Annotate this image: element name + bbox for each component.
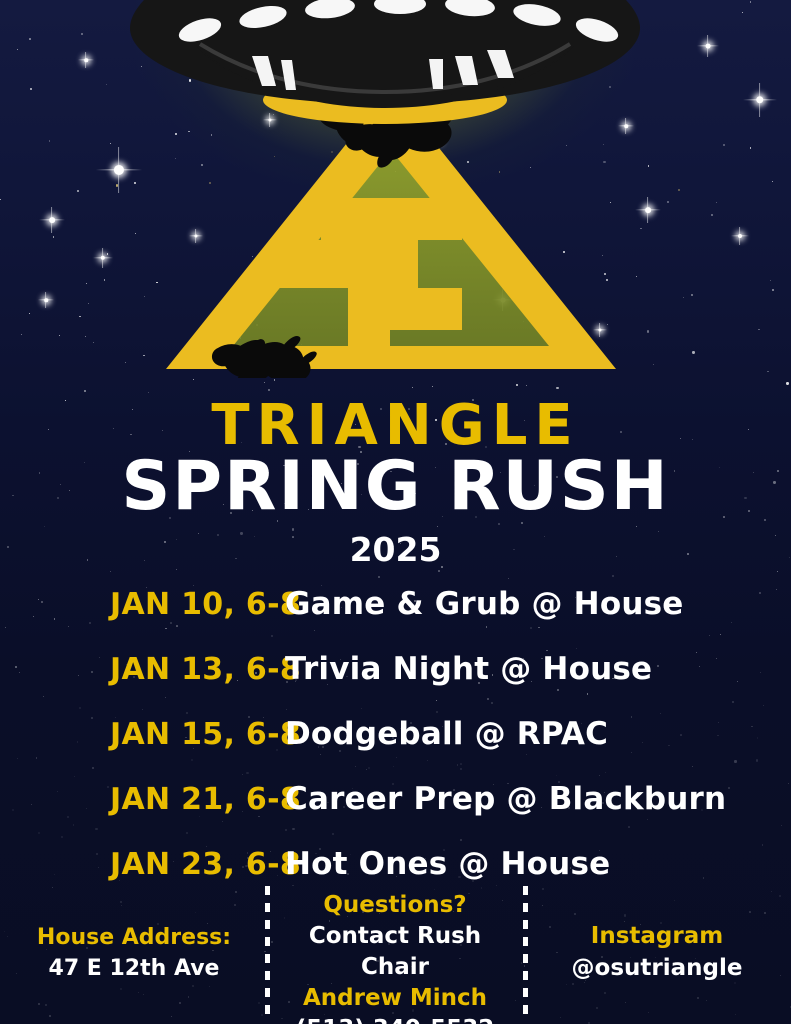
- rush-poster: TRIANGLE SPRING RUSH 2025 JAN 10, 6-8 Ga…: [0, 0, 791, 1024]
- poster-year: 2025: [0, 531, 791, 571]
- poster-footer: House Address: 47 E 12th Ave Questions? …: [0, 880, 791, 1024]
- schedule-row: JAN 10, 6-8 Game & Grub @ House: [0, 586, 791, 651]
- event-schedule: JAN 10, 6-8 Game & Grub @ House JAN 13, …: [0, 586, 791, 911]
- rush-chair-name: Andrew Minch: [272, 983, 518, 1014]
- event-date: JAN 10, 6-8: [0, 587, 285, 622]
- event-description: Dodgeball @ RPAC: [285, 716, 608, 752]
- questions-block: Questions? Contact Rush Chair Andrew Min…: [272, 890, 518, 1024]
- footer-divider-left: [265, 886, 270, 1022]
- event-description: Hot Ones @ House: [285, 846, 610, 882]
- event-date: JAN 21, 6-8: [0, 782, 285, 817]
- house-address-heading: House Address:: [8, 922, 260, 953]
- house-address-block: House Address: 47 E 12th Ave: [8, 922, 260, 984]
- event-description: Game & Grub @ House: [285, 586, 683, 622]
- schedule-row: JAN 13, 6-8 Trivia Night @ House: [0, 651, 791, 716]
- ufo-saucer: [0, 0, 791, 130]
- instagram-heading: Instagram: [531, 920, 783, 952]
- triangle-fraternity-logo: [0, 88, 791, 378]
- rush-chair-label: Contact Rush Chair: [272, 921, 518, 983]
- questions-heading: Questions?: [272, 890, 518, 921]
- event-description: Career Prep @ Blackburn: [285, 781, 726, 817]
- instagram-block: Instagram @osutriangle: [531, 920, 783, 984]
- event-date: JAN 23, 6-8: [0, 847, 285, 882]
- event-date: JAN 15, 6-8: [0, 717, 285, 752]
- house-address-value: 47 E 12th Ave: [8, 953, 260, 984]
- schedule-row: JAN 21, 6-8 Career Prep @ Blackburn: [0, 781, 791, 846]
- rush-chair-phone[interactable]: (513) 340-5532: [272, 1014, 518, 1024]
- footer-divider-right: [523, 886, 528, 1022]
- instagram-handle[interactable]: @osutriangle: [531, 952, 783, 984]
- schedule-row: JAN 15, 6-8 Dodgeball @ RPAC: [0, 716, 791, 781]
- event-date: JAN 13, 6-8: [0, 652, 285, 687]
- poster-title: SPRING RUSH: [0, 452, 791, 524]
- ufo-hull: [130, 0, 640, 104]
- event-description: Trivia Night @ House: [285, 651, 652, 687]
